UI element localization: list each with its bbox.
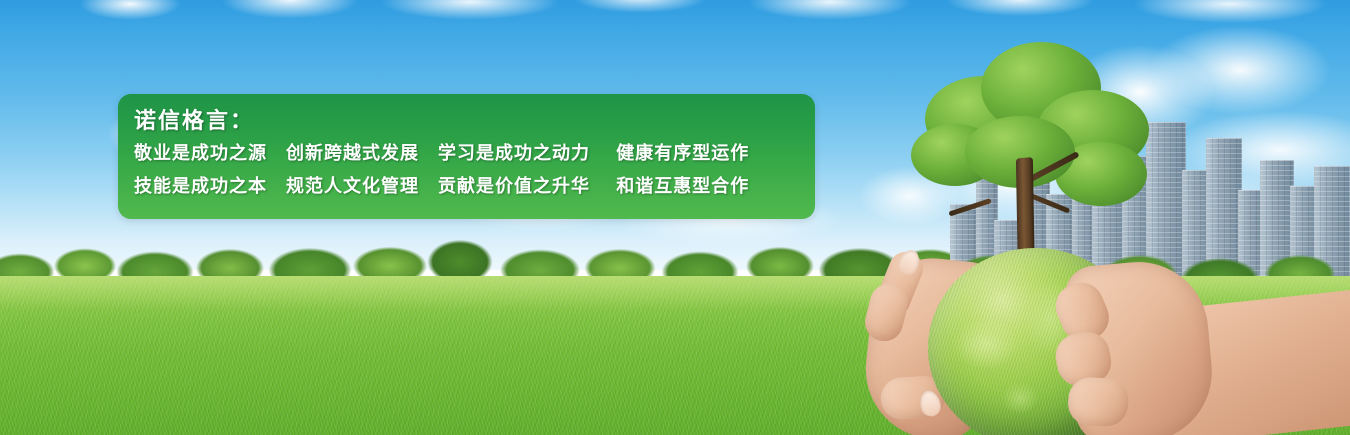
motto-panel: 诺信格言： 敬业是成功之源 创新跨越式发展 学习是成功之动力 健康有序型运作 技… <box>118 94 815 219</box>
motto-line-1: 敬业是成功之源 创新跨越式发展 学习是成功之动力 健康有序型运作 <box>134 137 815 170</box>
eco-corporate-banner: 诺信格言： 敬业是成功之源 创新跨越式发展 学习是成功之动力 健康有序型运作 技… <box>0 0 1350 435</box>
motto-title: 诺信格言： <box>134 107 815 137</box>
motto-line-2: 技能是成功之本 规范人文化管理 贡献是价值之升华 和谐互惠型合作 <box>134 170 815 203</box>
